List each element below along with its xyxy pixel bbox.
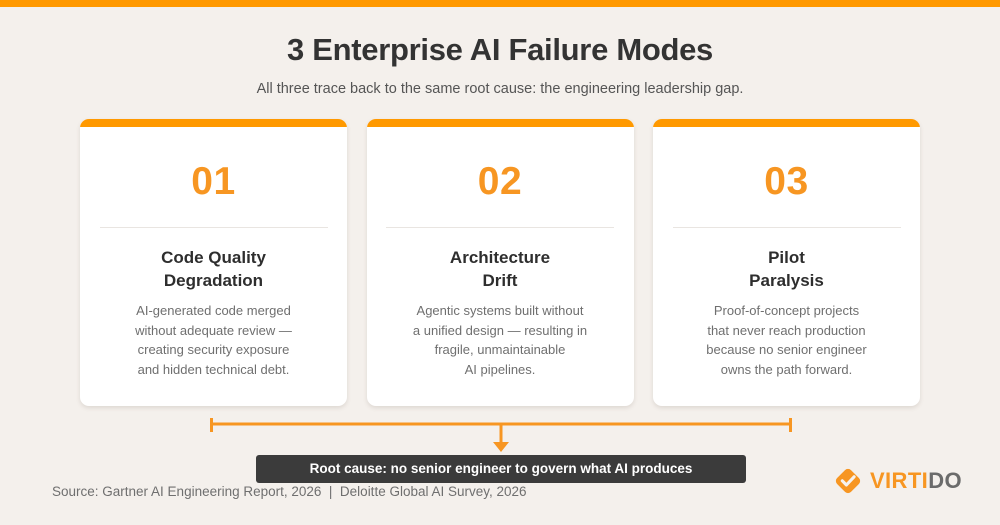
- failure-mode-card-3[interactable]: 03 Pilot Paralysis Proof-of-concept proj…: [653, 119, 920, 406]
- brand-logo[interactable]: VIRTIDO: [833, 464, 962, 498]
- page-title: 3 Enterprise AI Failure Modes: [0, 30, 1000, 70]
- card-number: 03: [764, 160, 808, 204]
- card-heading: Architecture Drift: [438, 246, 562, 292]
- bracket-connector: [205, 412, 797, 456]
- brand-logo-text-primary: VIRTI: [870, 468, 928, 493]
- card-accent-bar: [367, 119, 634, 127]
- brand-logo-text-secondary: DO: [928, 468, 962, 493]
- root-cause-label: Root cause: no senior engineer to govern…: [310, 461, 693, 477]
- brand-logo-text: VIRTIDO: [870, 469, 962, 493]
- card-heading: Pilot Paralysis: [737, 246, 836, 292]
- failure-mode-card-1[interactable]: 01 Code Quality Degradation AI-generated…: [80, 119, 347, 406]
- card-body: Agentic systems built without a unified …: [399, 301, 601, 379]
- card-body: Proof-of-concept projects that never rea…: [692, 301, 880, 379]
- source-citation: Source: Gartner AI Engineering Report, 2…: [52, 483, 527, 501]
- card-number: 01: [191, 160, 235, 204]
- card-heading: Code Quality Degradation: [149, 246, 278, 292]
- card-accent-bar: [80, 119, 347, 127]
- card-divider: [386, 227, 614, 228]
- card-divider: [100, 227, 328, 228]
- card-number: 02: [478, 160, 522, 204]
- card-body: AI-generated code merged without adequat…: [121, 301, 306, 379]
- card-divider: [673, 227, 901, 228]
- root-cause-banner: Root cause: no senior engineer to govern…: [256, 455, 746, 483]
- virtido-check-diamond-icon: [833, 466, 863, 496]
- header: 3 Enterprise AI Failure Modes All three …: [0, 30, 1000, 98]
- card-accent-bar: [653, 119, 920, 127]
- failure-mode-card-2[interactable]: 02 Architecture Drift Agentic systems bu…: [367, 119, 634, 406]
- failure-mode-cards: 01 Code Quality Degradation AI-generated…: [80, 119, 920, 406]
- page-subtitle: All three trace back to the same root ca…: [0, 80, 1000, 98]
- bracket-arrow-head: [493, 442, 509, 452]
- top-accent-bar: [0, 0, 1000, 7]
